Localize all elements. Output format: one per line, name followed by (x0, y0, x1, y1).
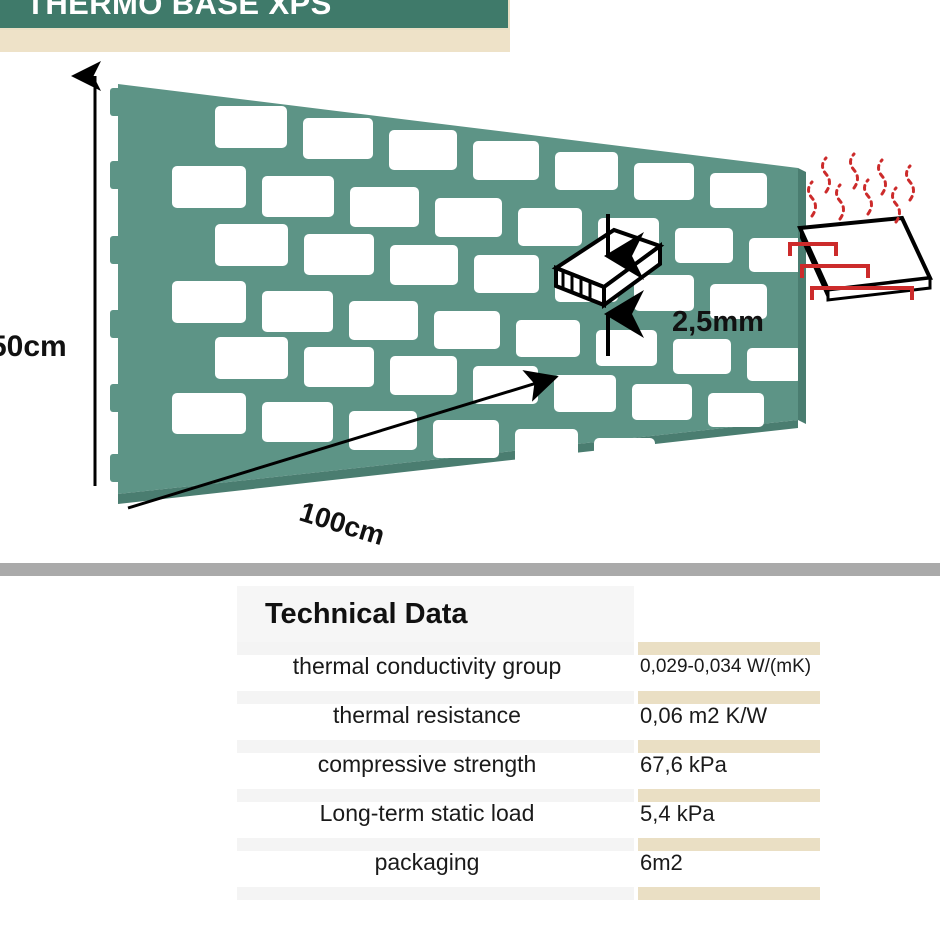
row-value: 5,4 kPa (640, 801, 715, 827)
row-value: 67,6 kPa (640, 752, 727, 778)
title-banner-green-bar: THERMO BASE XPS (0, 0, 510, 30)
table-row: compressive strength67,6 kPa (0, 740, 940, 789)
table-row: packaging6m2 (0, 838, 940, 887)
table-row: Long-term static load5,4 kPa (0, 789, 940, 838)
row-label: Long-term static load (237, 800, 617, 827)
title-banner-cream-strip (0, 30, 510, 52)
row-value: 0,029-0,034 W/(mK) (640, 656, 811, 678)
row-value: 6m2 (640, 850, 683, 876)
table-footer-bands (0, 887, 940, 900)
height-dimension-label: 50cm (0, 330, 67, 364)
footer-band-left (237, 887, 634, 900)
section-divider (0, 563, 940, 576)
row-label: thermal resistance (237, 702, 617, 729)
row-label: thermal conductivity group (237, 653, 617, 680)
xps-panel-graphic (110, 84, 806, 504)
technical-data-table: thermal conductivity group0,029-0,034 W/… (0, 642, 940, 900)
technical-data-header: Technical Data (237, 586, 634, 642)
footer-band-right (638, 887, 820, 900)
product-spec-sheet: THERMO BASE XPS (0, 0, 940, 940)
table-row: thermal resistance0,06 m2 K/W (0, 691, 940, 740)
row-label: compressive strength (237, 751, 617, 778)
thickness-dimension-label: 2,5mm (672, 306, 764, 339)
row-value: 0,06 m2 K/W (640, 703, 767, 729)
title-banner: THERMO BASE XPS (0, 0, 510, 52)
product-illustration: 50cm 100cm 2,5mm (0, 56, 940, 556)
row-band-right (638, 642, 820, 655)
page-title: THERMO BASE XPS (0, 0, 332, 22)
row-label: packaging (237, 849, 617, 876)
underfloor-heating-icon (790, 154, 930, 300)
technical-data-title: Technical Data (237, 598, 468, 631)
table-row: thermal conductivity group0,029-0,034 W/… (0, 642, 940, 691)
